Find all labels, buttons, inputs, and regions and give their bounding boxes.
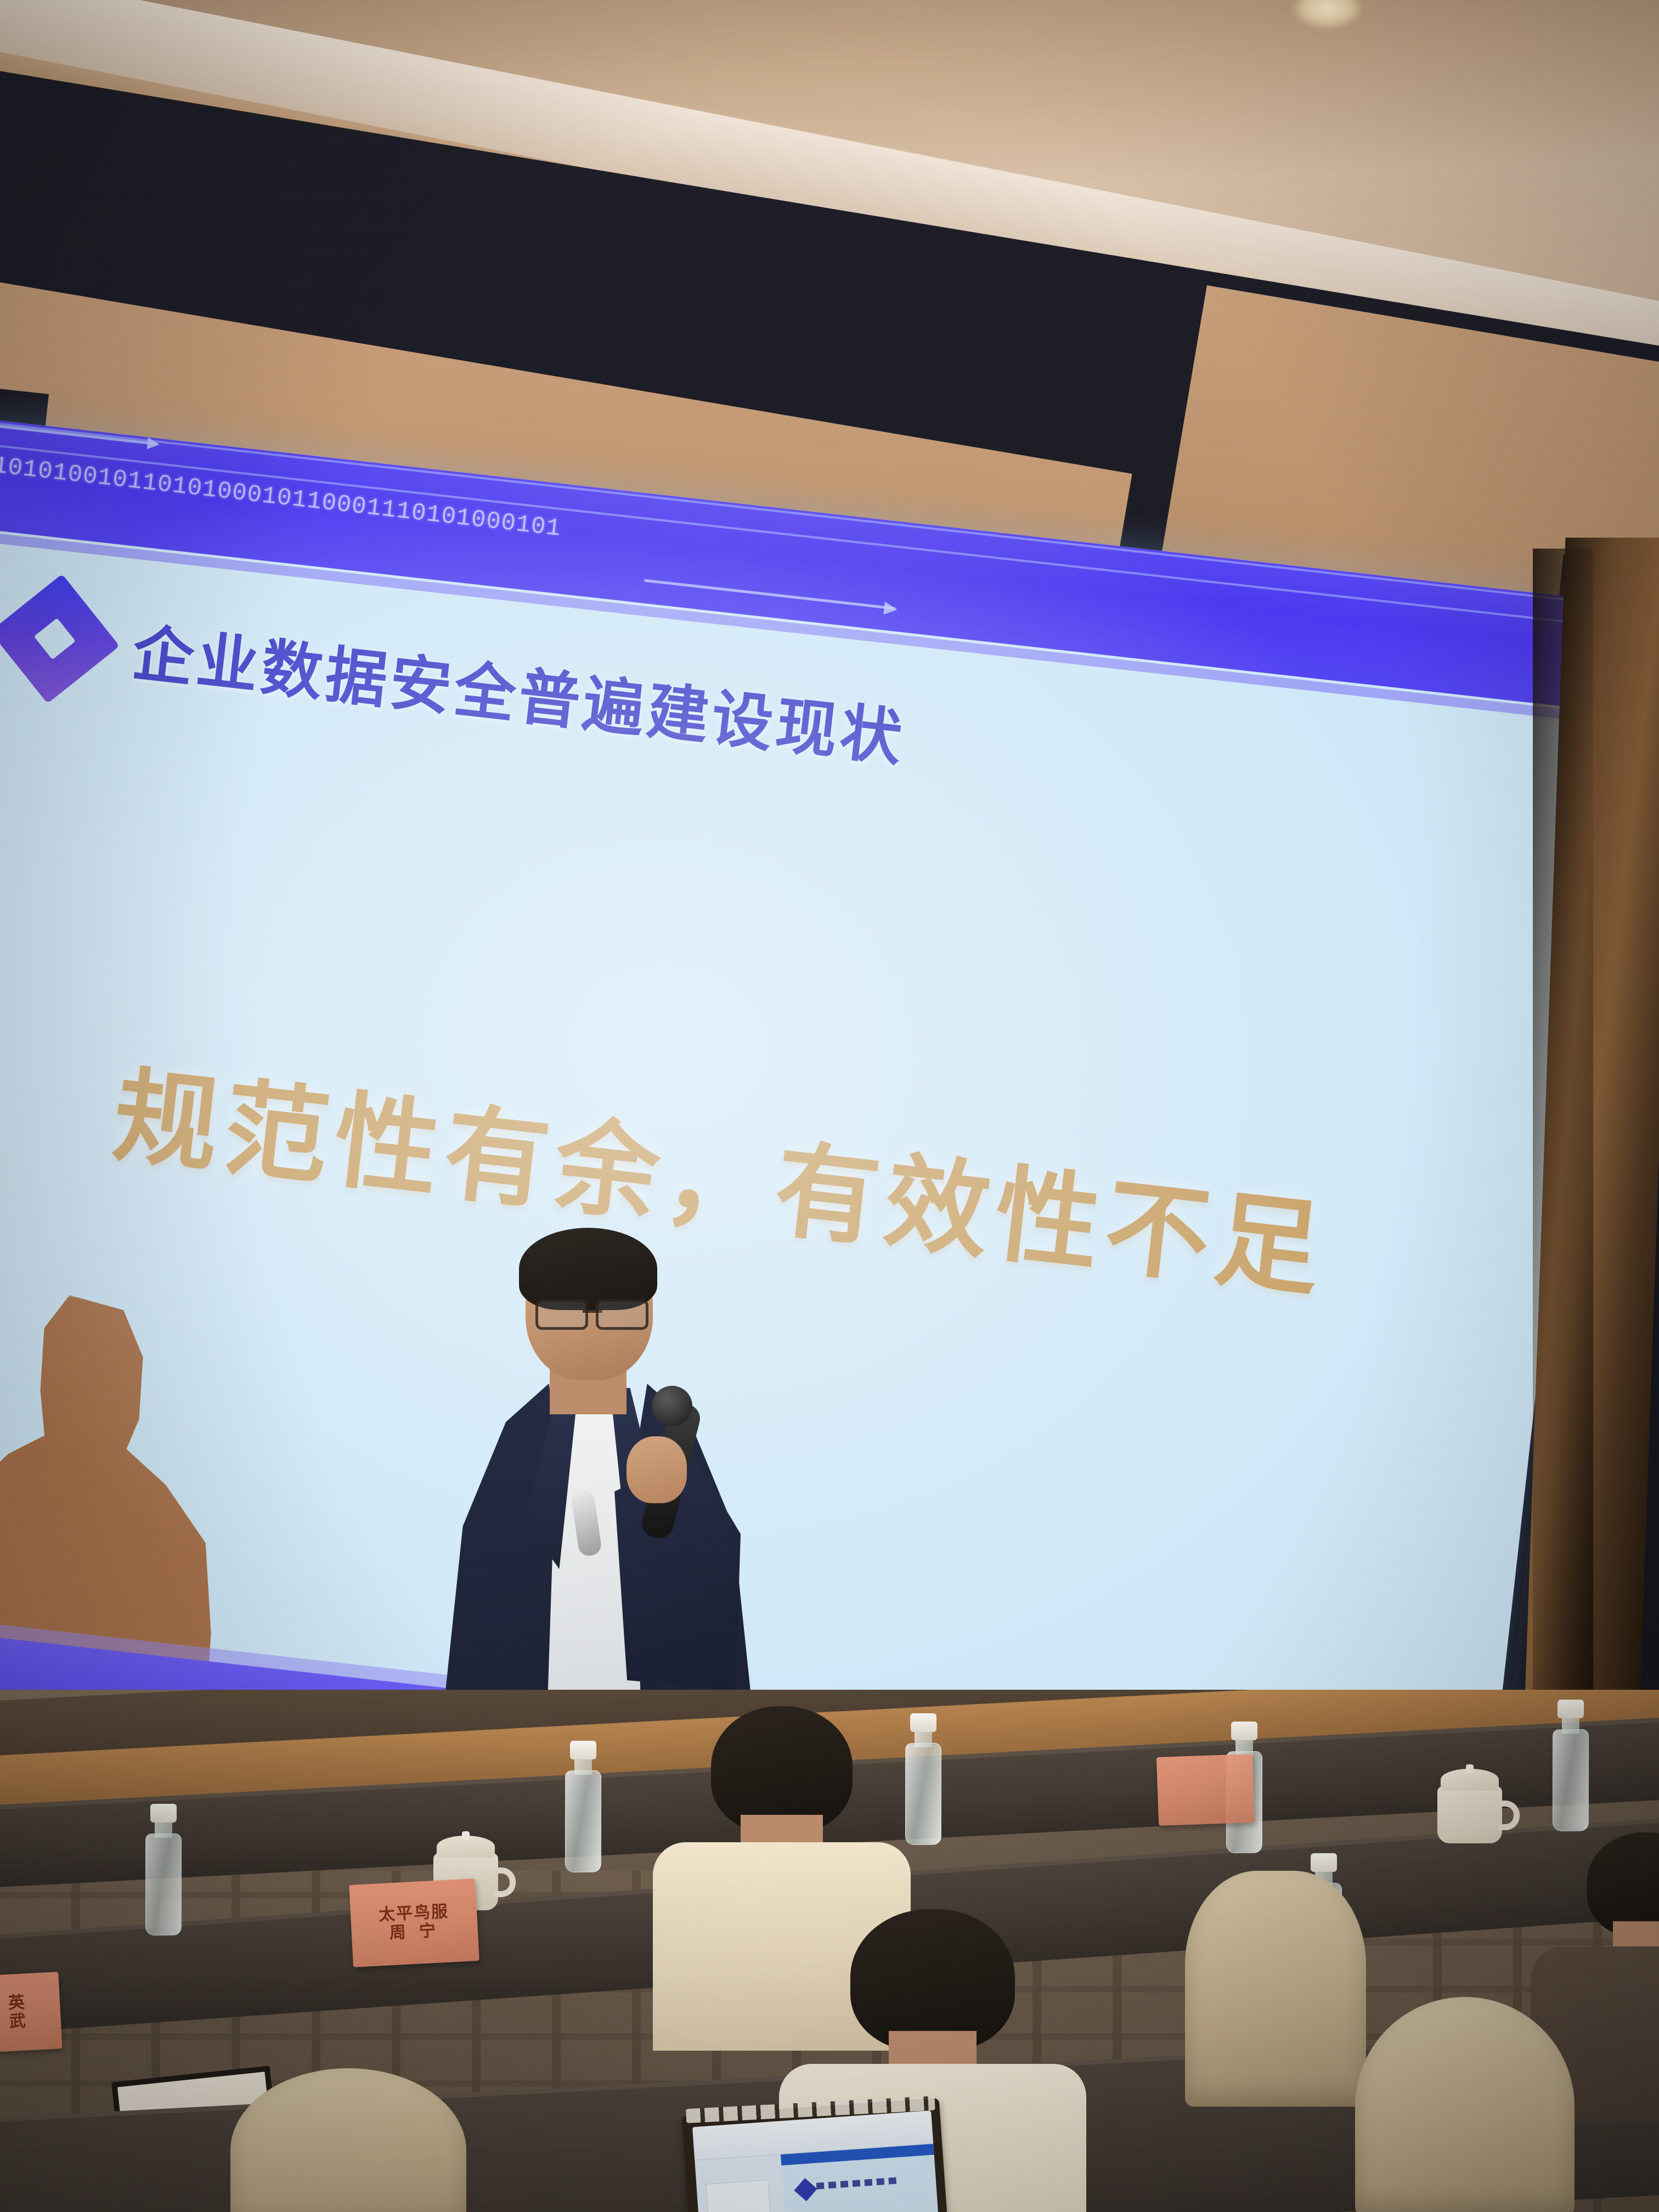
water-bottle <box>1553 1701 1589 1831</box>
projection-screen: 1000110101001011010100010110001110101000… <box>0 417 1624 1900</box>
curtain-right-fold <box>1533 549 1593 1756</box>
name-card-sub: 武 <box>9 2012 31 2032</box>
name-card-name: 英 <box>8 1993 30 2013</box>
chair <box>1355 1997 1575 2212</box>
name-card: 英 武 <box>0 1972 63 2053</box>
header-arrow-right-icon <box>644 579 895 610</box>
name-card: 太平鸟服 周 宁 <box>349 1878 479 1967</box>
ceiling-light-icon <box>1295 0 1361 27</box>
water-bottle <box>145 1805 182 1936</box>
powerpoint-slide-thumbnails[interactable] <box>706 2180 771 2212</box>
eyeglasses-icon <box>535 1299 648 1325</box>
presenter-hair <box>519 1228 657 1310</box>
name-card <box>1156 1754 1255 1826</box>
water-bottle <box>565 1742 601 1872</box>
slide-statement-text: 规范性有余，有效性不足 <box>0 1006 1559 1341</box>
chair <box>1185 1871 1366 2107</box>
laptop[interactable] <box>682 2098 948 2212</box>
name-card-name: 周 宁 <box>389 1922 441 1943</box>
presenter-hand <box>627 1436 687 1503</box>
diamond-outline-icon <box>4 588 106 690</box>
microphone-head-icon <box>652 1386 692 1426</box>
photo-scene: 1000110101001011010100010110001110101000… <box>0 0 1659 2212</box>
teacup <box>1437 1772 1520 1843</box>
laptop-screen[interactable] <box>692 2111 939 2212</box>
